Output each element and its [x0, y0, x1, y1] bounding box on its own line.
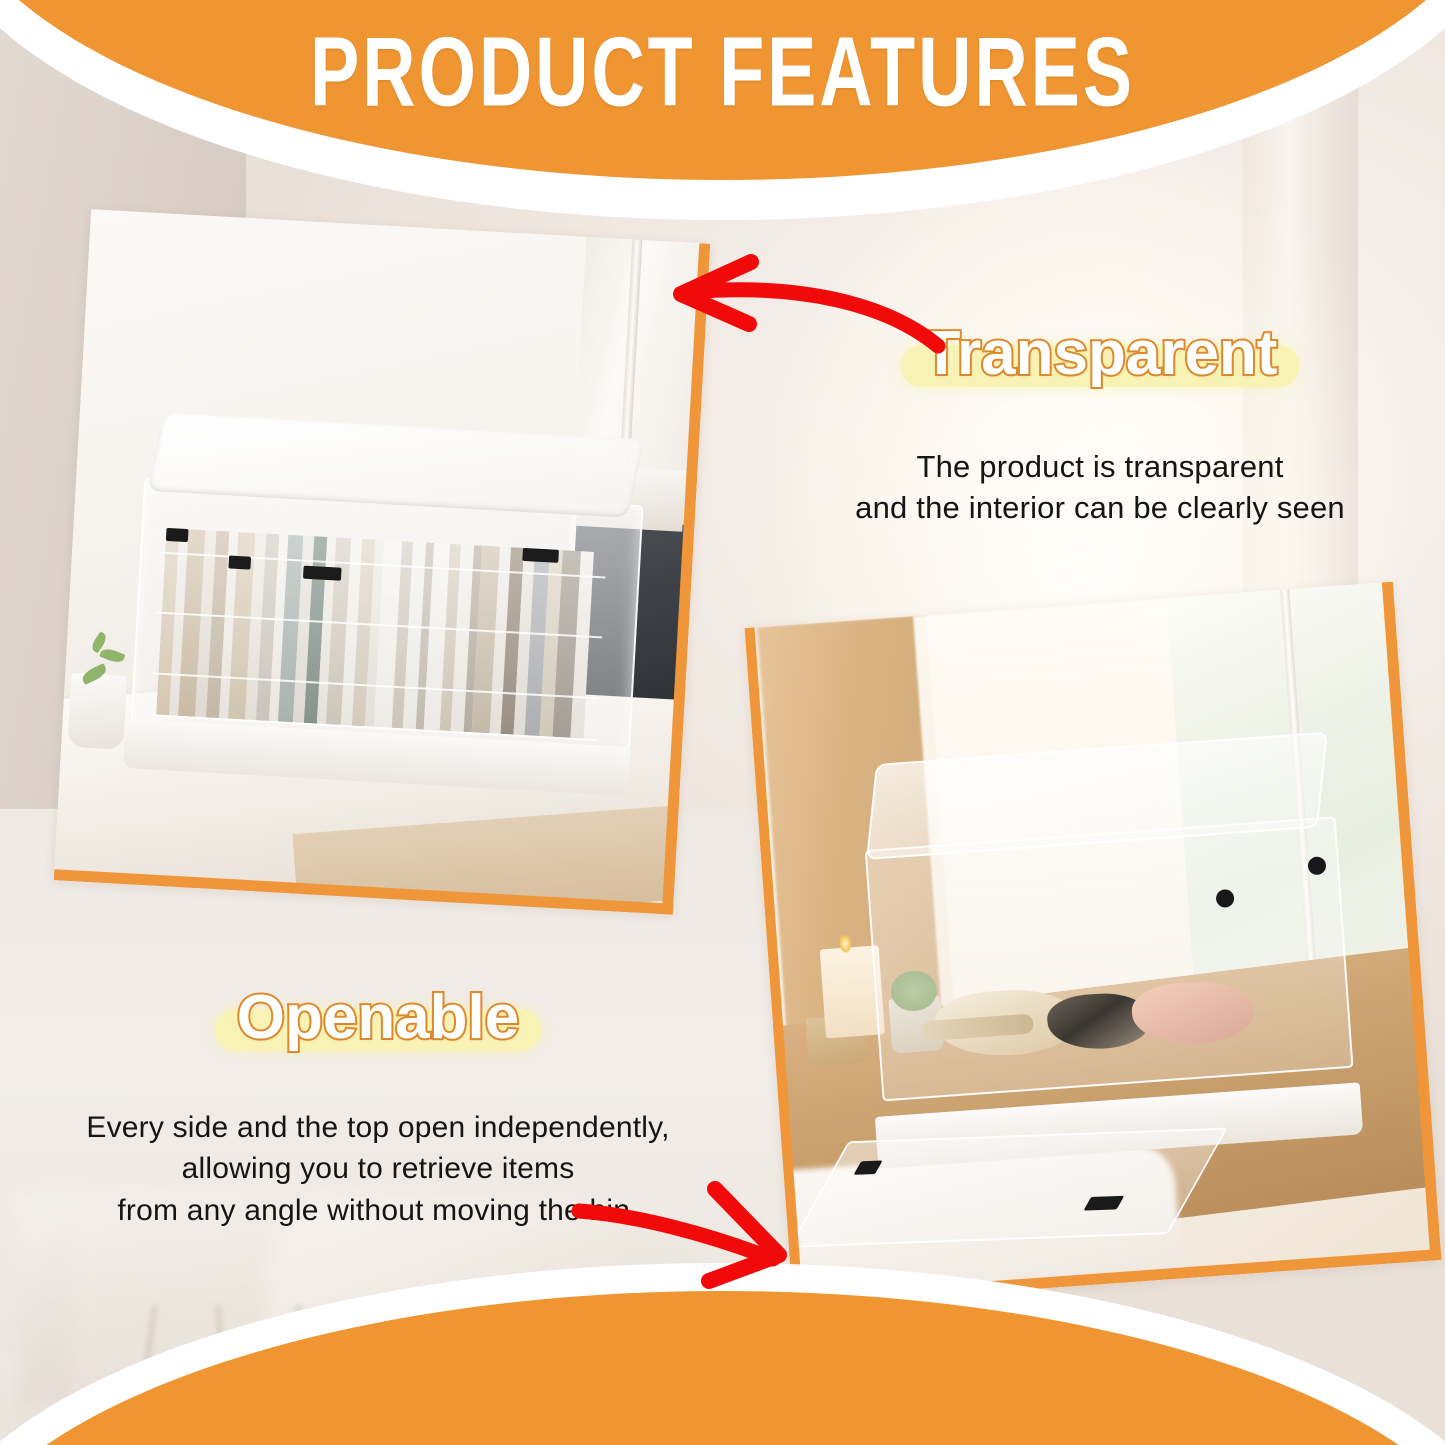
photo2-bin-body [865, 816, 1354, 1101]
feature-transparent-body-line2: and the interior can be clearly seen [790, 488, 1410, 529]
feature-transparent-heading-wrap: Transparent [923, 318, 1278, 389]
photo2-storage-bin [862, 777, 1352, 1136]
footer-banner [0, 1273, 1445, 1445]
photo1-storage-bin [129, 448, 641, 778]
photo1-bin-latch [303, 566, 342, 581]
photo-transparent-bin [54, 209, 711, 915]
photo-openable-bin-image [745, 582, 1442, 1307]
photo2-candle-flame [838, 934, 851, 953]
photo1-bin-latch [522, 548, 559, 563]
photo2-bin-front-door [789, 1127, 1228, 1247]
page-title: PRODUCT FEATURES [29, 16, 1416, 130]
photo1-bin-latch [166, 528, 189, 542]
feature-transparent-body-line1: The product is transparent [790, 447, 1410, 488]
photo1-plant-pot [67, 673, 127, 750]
footer-banner-fill [0, 1291, 1445, 1445]
red-curved-arrow-left [655, 250, 945, 360]
feature-openable-heading: Openable [237, 983, 520, 1052]
feature-openable-heading-wrap: Openable [237, 982, 520, 1053]
feature-transparent-heading: Transparent [923, 319, 1278, 388]
feature-openable-body-line1: Every side and the top open independentl… [8, 1107, 748, 1148]
photo2-cloth-pink [1130, 978, 1256, 1049]
red-curved-arrow-right [575, 1175, 815, 1290]
photo1-bin-body [130, 478, 644, 764]
photo-openable-bin [745, 582, 1442, 1307]
photo-transparent-bin-image [54, 209, 711, 915]
feature-transparent-body: The product is transparent and the inter… [790, 447, 1410, 529]
photo1-bin-latch [229, 555, 252, 569]
infographic-canvas: PRODUCT FEATURES Transparent The product… [0, 0, 1445, 1445]
